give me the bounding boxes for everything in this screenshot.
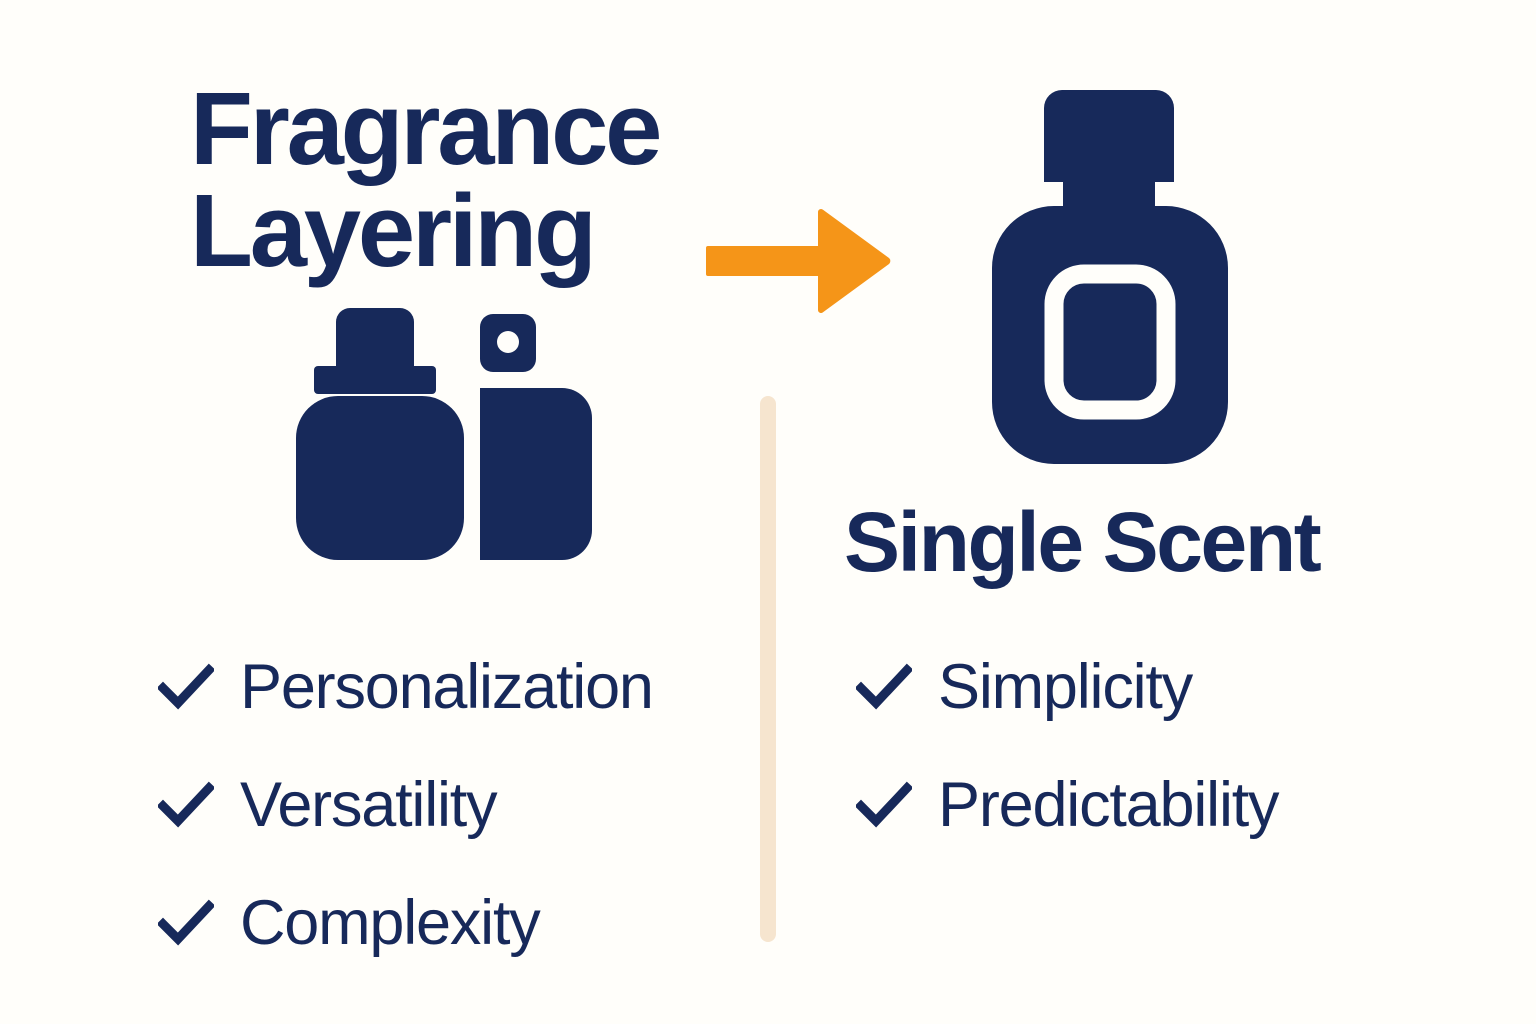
list-item: Versatility [158,746,738,864]
list-item-label: Predictability [938,774,1278,837]
list-item-label: Simplicity [938,656,1192,719]
left-panel: Fragrance Layering [0,0,760,1024]
left-panel-title: Fragrance Layering [190,78,710,282]
two-perfume-bottles-icon [292,300,592,562]
list-item-label: Versatility [240,774,496,837]
check-icon [856,659,912,715]
list-item: Personalization [158,628,738,746]
check-icon [158,777,214,833]
left-benefit-list: Personalization Versatility Complexity [158,628,738,982]
list-item-label: Personalization [240,656,653,719]
vertical-divider [760,396,776,942]
single-perfume-bottle-icon [990,86,1230,468]
list-item: Complexity [158,864,738,982]
right-benefit-list: Simplicity Predictability [856,628,1476,864]
list-item-label: Complexity [240,892,540,955]
right-panel-title: Single Scent [844,500,1484,584]
list-item: Predictability [856,746,1476,864]
list-item: Simplicity [856,628,1476,746]
check-icon [158,659,214,715]
check-icon [158,895,214,951]
check-icon [856,777,912,833]
infographic-canvas: Fragrance Layering [0,0,1536,1024]
right-panel: Single Scent Simplicity Predictability [776,0,1536,1024]
